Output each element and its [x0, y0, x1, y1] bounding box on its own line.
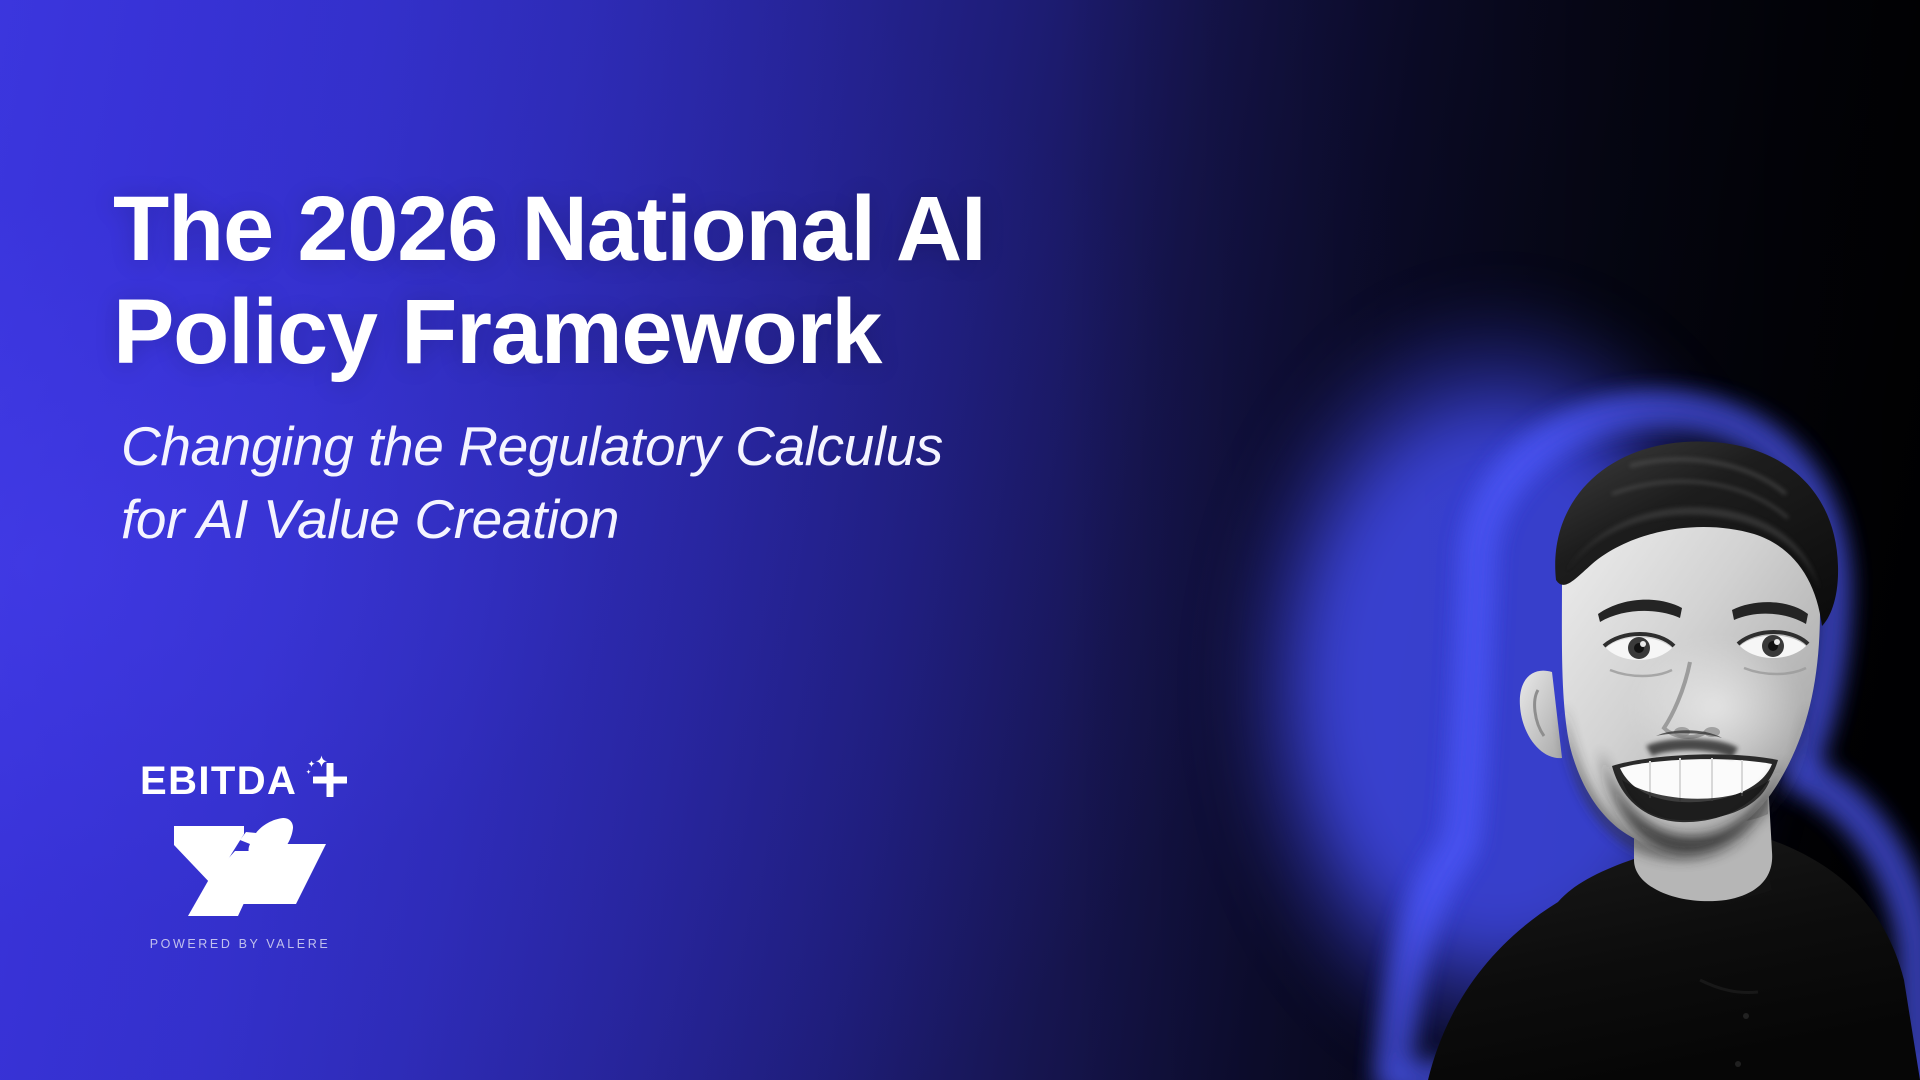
page-subtitle: Changing the Regulatory Calculus for AI …: [121, 410, 1113, 555]
valere-v-rocket-mark: [140, 815, 340, 927]
plus-with-sparkles: [299, 755, 351, 801]
ebitda-wordmark: EBITDA: [140, 761, 297, 801]
brand-logo-lockup[interactable]: EBITDA: [140, 755, 370, 951]
plus-icon: [313, 763, 347, 797]
sparkle-icon: [306, 756, 327, 775]
ebitda-wordmark-row: EBITDA: [140, 755, 370, 801]
portrait-illustration: [1160, 280, 1920, 1080]
slide-canvas: The 2026 National AI Policy Framework Ch…: [0, 0, 1920, 1080]
title-block: The 2026 National AI Policy Framework Ch…: [113, 178, 1113, 555]
presenter-portrait: [1160, 280, 1920, 1080]
powered-by-tagline: POWERED BY VALERE: [140, 937, 340, 951]
page-title: The 2026 National AI Policy Framework: [113, 178, 1113, 384]
